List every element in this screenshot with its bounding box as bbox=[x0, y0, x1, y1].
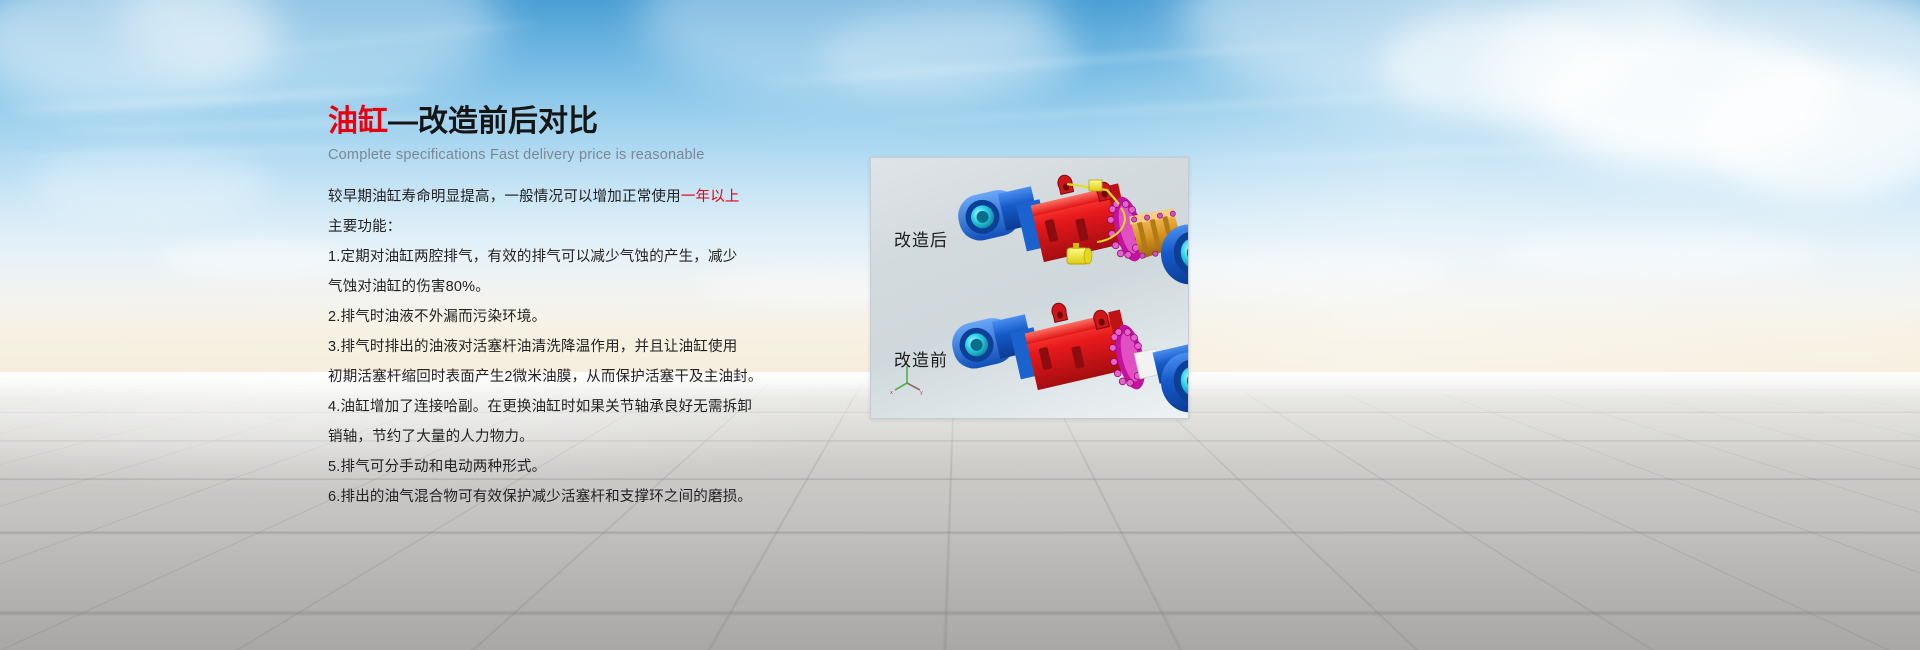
cloud-puff bbox=[1540, 30, 1840, 160]
body-line: 较早期油缸寿命明显提高，一般情况可以增加正常使用一年以上 bbox=[328, 183, 758, 212]
cylinder-after bbox=[954, 174, 1188, 290]
cloud-streak bbox=[0, 145, 380, 160]
body-line: 初期活塞杆缩回时表面产生2微米油膜，从而保护活塞干及主油封。 bbox=[328, 363, 758, 392]
lifting-lug bbox=[1050, 302, 1068, 323]
cloud-streak bbox=[760, 40, 1319, 86]
body-copy: 较早期油缸寿命明显提高，一般情况可以增加正常使用一年以上 主要功能： 1.定期对… bbox=[328, 183, 758, 512]
body-line: 6.排出的油气混合物可有效保护减少活塞杆和支撑环之间的磨损。 bbox=[328, 483, 758, 512]
cloud-streak bbox=[241, 20, 540, 56]
page-subtitle: Complete specifications Fast delivery pr… bbox=[328, 147, 758, 163]
cloud-puff bbox=[1500, 230, 1820, 280]
body-line: 5.排气可分手动和电动两种形式。 bbox=[328, 453, 758, 482]
body-line: 4.油缸增加了连接哈副。在更换油缸时如果关节轴承良好无需拆卸 bbox=[328, 393, 758, 422]
body-line-text: 初期活塞杆缩回时表面产生2微米油膜，从而保护活塞干及主油封。 bbox=[328, 369, 763, 385]
cloud-puff bbox=[120, 0, 500, 100]
body-line: 气蚀对油缸的伤害80%。 bbox=[328, 273, 758, 302]
cloud-streak bbox=[880, 88, 1499, 126]
cylinder-before bbox=[948, 302, 1188, 418]
hero-text-block: 油缸—改造前后对比 Complete specifications Fast d… bbox=[328, 104, 758, 513]
cloud-puff bbox=[1380, 10, 1620, 120]
body-line-text: 较早期油缸寿命明显提高，一般情况可以增加正常使用 bbox=[328, 189, 681, 205]
body-line: 销轴，节约了大量的人力物力。 bbox=[328, 423, 758, 452]
page-title-highlight: 油缸 bbox=[328, 105, 388, 138]
page-title-rest: —改造前后对比 bbox=[388, 105, 598, 138]
cloud-puff bbox=[1480, 0, 1920, 180]
body-line-highlight: 一年以上 bbox=[681, 189, 740, 205]
cylinder-comparison-image: z x y 改造后 改造前 bbox=[870, 157, 1189, 419]
cylinder-diagram: z x y bbox=[871, 158, 1188, 418]
body-line-text: 5.排气可分手动和电动两种形式。 bbox=[328, 459, 546, 475]
cloud-puff bbox=[640, 0, 1060, 100]
cloud-puff bbox=[1700, 60, 1920, 200]
body-line-text: 3.排气时排出的油液对活塞杆油清洗降温作用，并且让油缸使用 bbox=[328, 339, 737, 355]
cloud-puff bbox=[820, 10, 1080, 100]
cloud-puff bbox=[30, 150, 270, 220]
cloud-puff bbox=[1150, 250, 1450, 294]
body-line-text: 主要功能： bbox=[328, 219, 402, 235]
body-line-text: 6.排出的油气混合物可有效保护减少活塞杆和支撑环之间的磨损。 bbox=[328, 489, 752, 505]
body-line: 2.排气时油液不外漏而污染环境。 bbox=[328, 303, 758, 332]
body-line: 3.排气时排出的油液对活塞杆油清洗降温作用，并且让油缸使用 bbox=[328, 333, 758, 362]
body-line-text: 4.油缸增加了连接哈副。在更换油缸时如果关节轴承良好无需拆卸 bbox=[328, 399, 752, 415]
svg-text:x: x bbox=[890, 390, 893, 396]
svg-text:y: y bbox=[920, 390, 923, 396]
cloud-puff bbox=[0, 0, 280, 110]
body-line: 1.定期对油缸两腔排气，有效的排气可以减少气蚀的产生，减少 bbox=[328, 243, 758, 272]
label-before-modification: 改造前 bbox=[894, 346, 948, 371]
page-title: 油缸—改造前后对比 bbox=[328, 104, 758, 140]
body-line-text: 1.定期对油缸两腔排气，有效的排气可以减少气蚀的产生，减少 bbox=[328, 249, 737, 265]
body-line-text: 2.排气时油液不外漏而污染环境。 bbox=[328, 309, 546, 325]
hero-banner: 油缸—改造前后对比 Complete specifications Fast d… bbox=[0, 0, 1920, 650]
body-line: 主要功能： bbox=[328, 213, 758, 242]
body-line-text: 销轴，节约了大量的人力物力。 bbox=[328, 429, 534, 445]
label-after-modification: 改造后 bbox=[894, 226, 948, 251]
cloud-puff bbox=[1180, 0, 1700, 110]
cloud-streak bbox=[1180, 141, 1700, 165]
body-line-text: 气蚀对油缸的伤害80%。 bbox=[328, 279, 490, 295]
